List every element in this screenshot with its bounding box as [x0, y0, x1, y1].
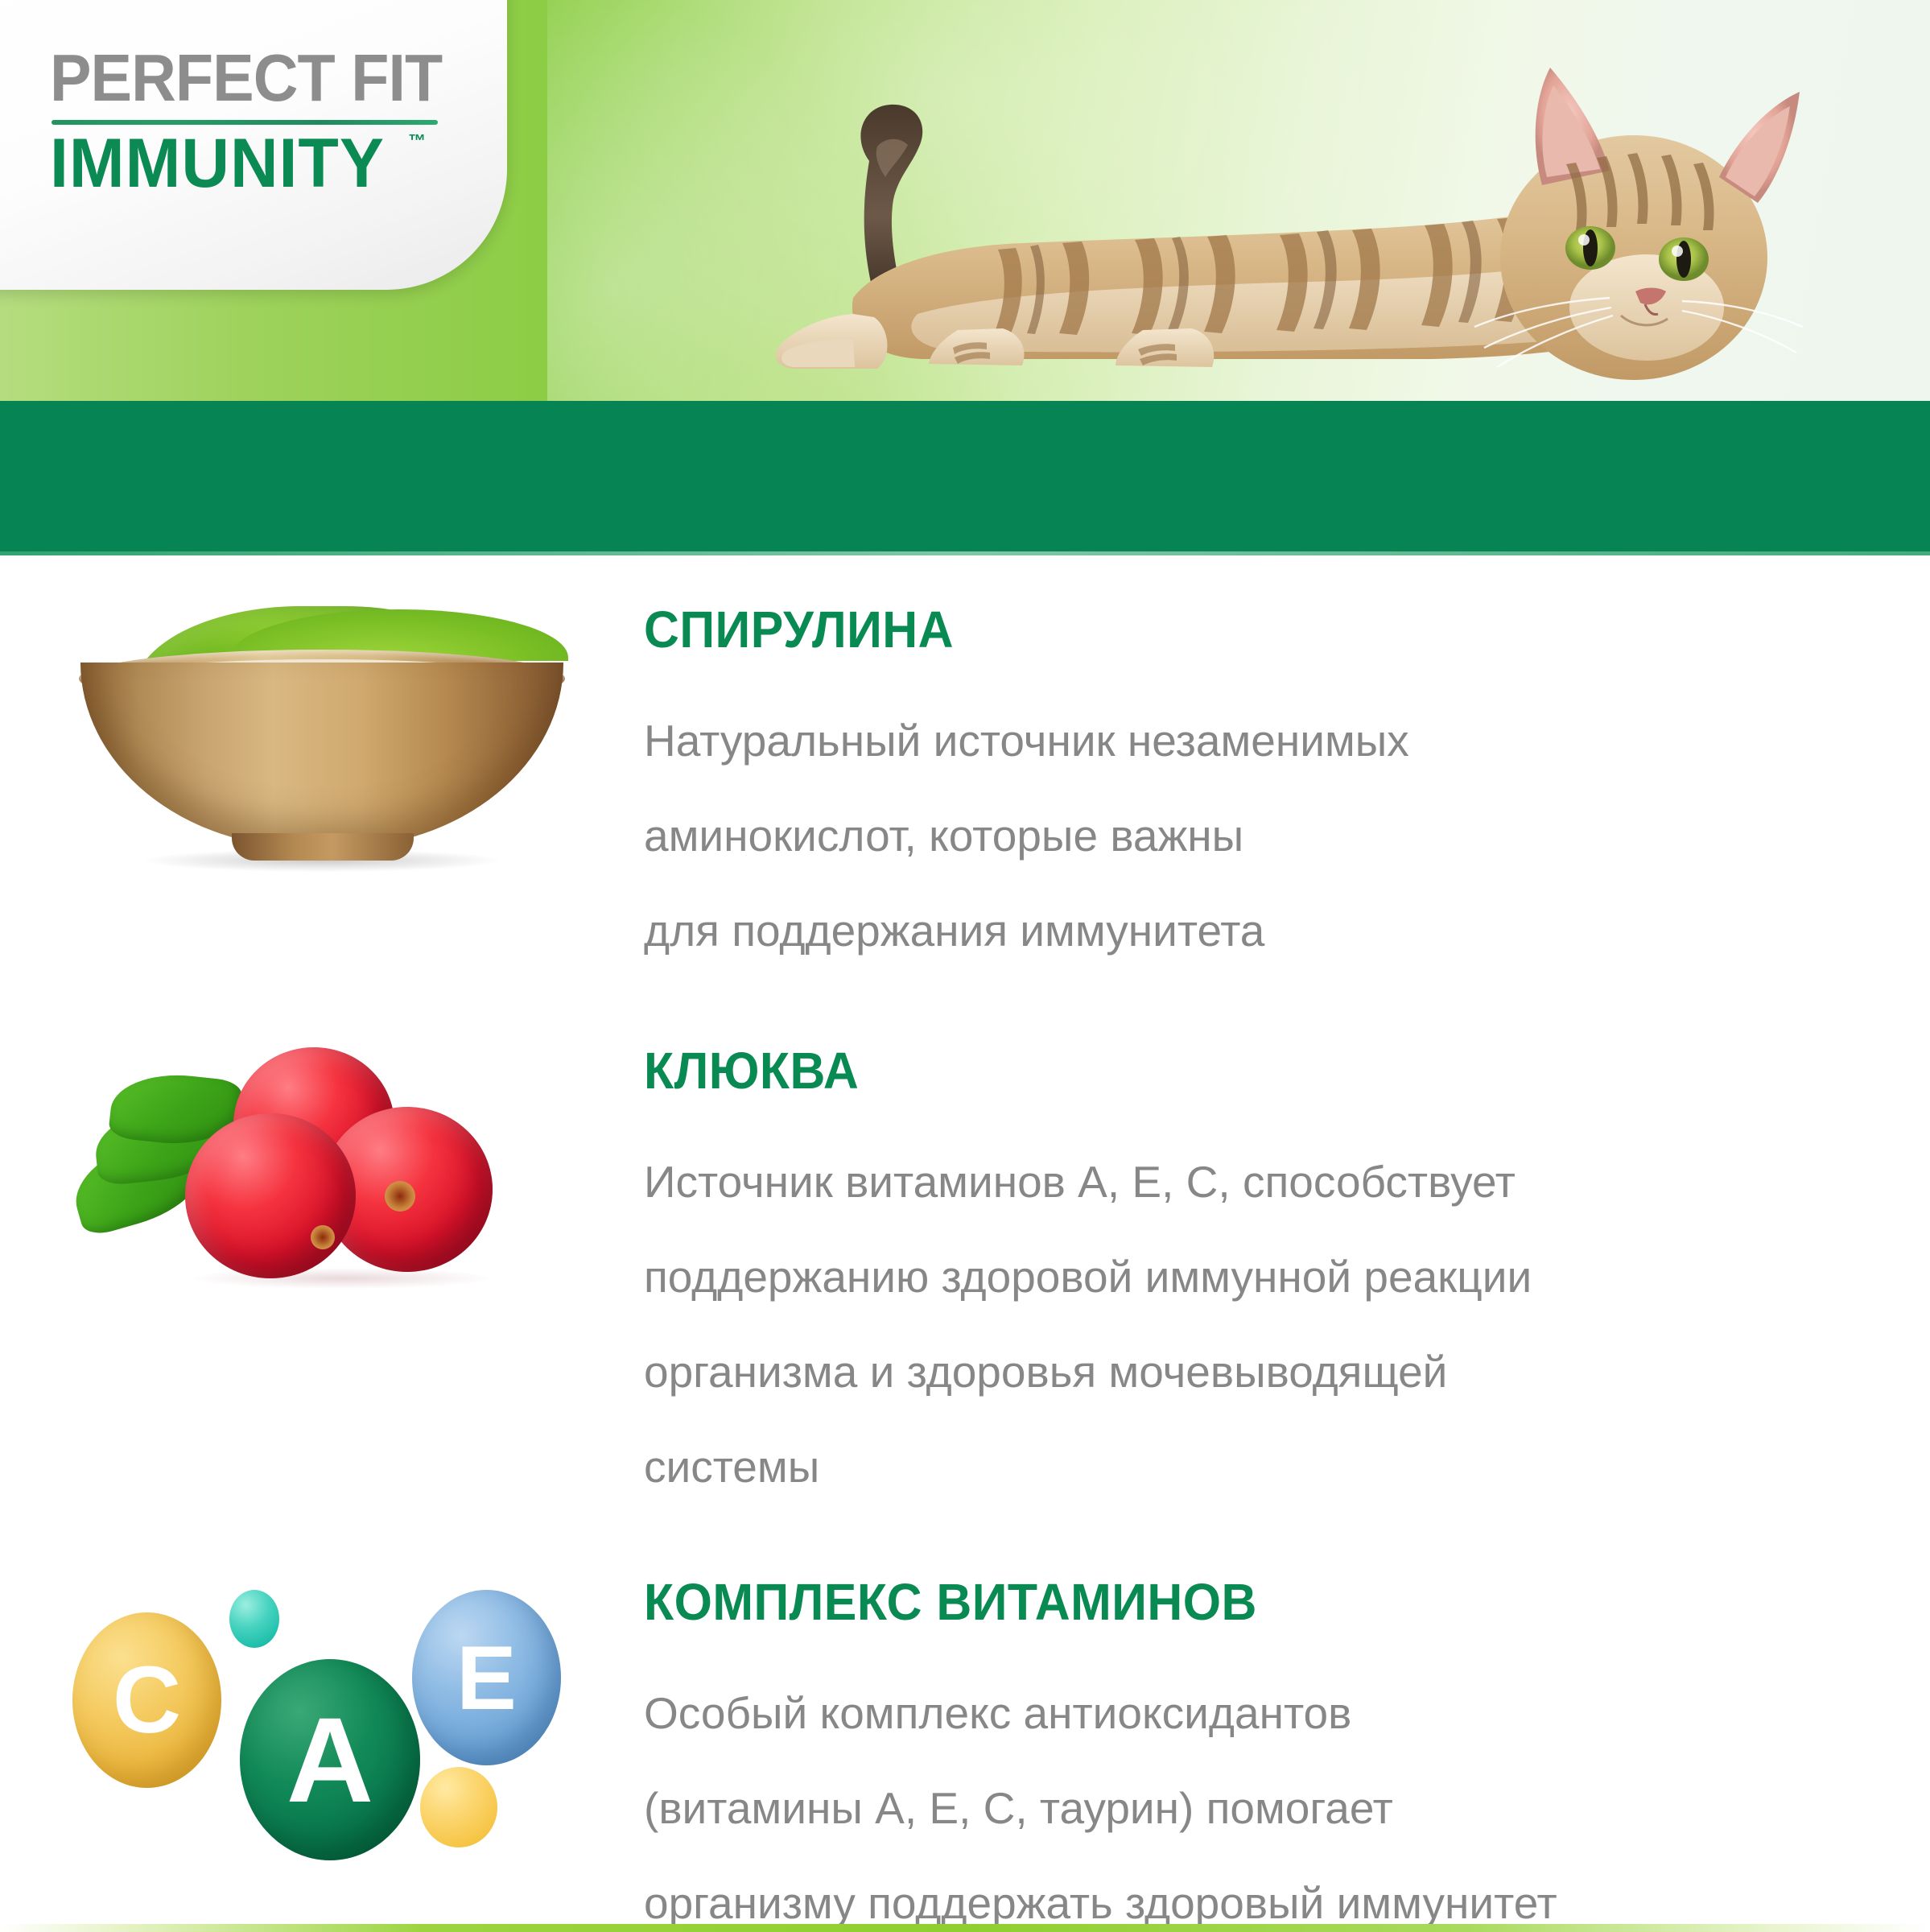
feature-body-vitamins: Особый комплекс антиоксидантов (витамины… — [644, 1666, 1858, 1932]
feature-body-cranberry: Источник витаминов А, Е, С, способствует… — [644, 1134, 1858, 1514]
feature-line: системы — [644, 1419, 1858, 1514]
bubble-vitamin-a: A — [240, 1659, 420, 1860]
trademark-symbol: ™ — [408, 130, 426, 151]
brand-logo-card: PERFECT FIT IMMUNITY ™ — [0, 0, 507, 290]
features-section: СПИРУЛИНА Натуральный источник незаменим… — [0, 555, 1930, 1932]
bengal-cat-image — [757, 56, 1835, 402]
feature-title-spirulina: СПИРУЛИНА — [644, 600, 1797, 659]
feature-spirulina: СПИРУЛИНА Натуральный источник незаменим… — [0, 600, 1930, 978]
feature-body-spirulina: Натуральный источник незаменимых аминоки… — [644, 693, 1858, 978]
feature-line: Источник витаминов А, Е, С, способствует — [644, 1134, 1858, 1229]
feature-line: для поддержания иммунитета — [644, 883, 1858, 978]
logo-perfect-fit-text: PERFECT FIT — [50, 44, 447, 111]
spirulina-bowl-icon — [0, 600, 644, 873]
feature-cranberry: КЛЮКВА Источник витаминов А, Е, С, спосо… — [0, 1041, 1930, 1514]
feature-line: организму поддержать здоровый иммунитет — [644, 1856, 1858, 1932]
promo-page: PERFECT FIT IMMUNITY ™ — [0, 0, 1930, 1932]
feature-line: поддержанию здоровой иммунной реакции — [644, 1229, 1858, 1324]
hero-banner: PERFECT FIT IMMUNITY ™ — [0, 0, 1930, 402]
feature-title-vitamins: КОМПЛЕКС ВИТАМИНОВ — [644, 1572, 1797, 1632]
bubble-small-yellow — [420, 1767, 497, 1847]
feature-vitamins: C E A КОМПЛЕКС ВИТАМИНОВ Особый комплекс… — [0, 1572, 1930, 1932]
feature-line: Особый комплекс антиоксидантов — [644, 1666, 1858, 1761]
feature-line: Натуральный источник незаменимых — [644, 693, 1858, 788]
feature-line: организма и здоровья мочевыводящей — [644, 1324, 1858, 1419]
green-divider-band — [0, 401, 1930, 555]
feature-line: аминокислот, которые важны — [644, 788, 1858, 883]
vitamin-bubbles-icon: C E A — [0, 1572, 644, 1870]
feature-line: (витамины А, Е, С, таурин) помогает — [644, 1761, 1858, 1856]
feature-title-cranberry: КЛЮКВА — [644, 1041, 1797, 1100]
cranberry-icon — [0, 1041, 644, 1290]
logo-immunity-text: IMMUNITY — [50, 129, 385, 198]
bubble-vitamin-c: C — [72, 1612, 221, 1788]
bottom-accent-strip — [0, 1924, 1930, 1932]
bubble-vitamin-e: E — [412, 1590, 561, 1765]
bubble-small-teal — [229, 1590, 279, 1648]
